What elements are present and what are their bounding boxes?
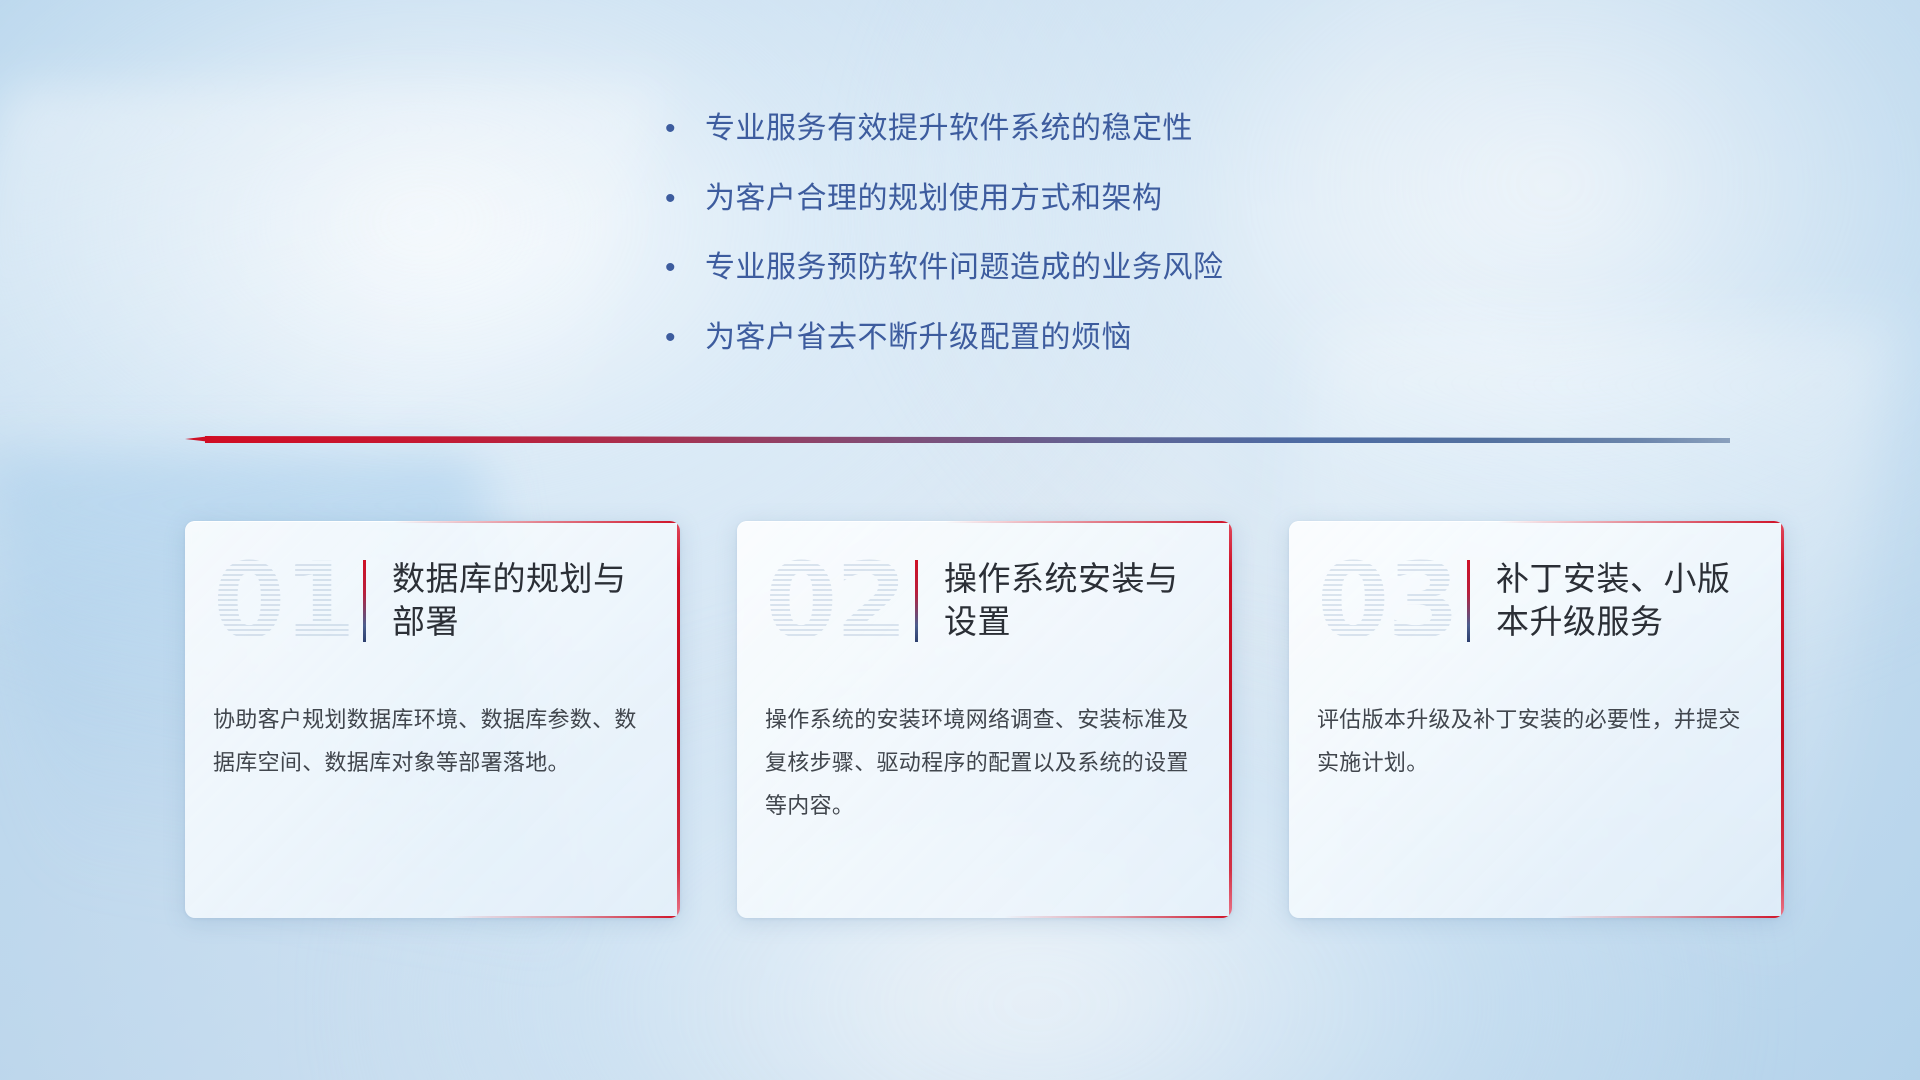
card-number: 01 <box>213 549 363 653</box>
service-card-list: 01 数据库的规划与部署 协助客户规划数据库环境、数据库参数、数据库空间、数据库… <box>185 521 1784 918</box>
card-header: 02 操作系统安装与设置 <box>737 521 1232 681</box>
card-bottom-accent <box>452 916 680 918</box>
card-description: 评估版本升级及补丁安装的必要性，并提交实施计划。 <box>1289 681 1784 785</box>
service-card-03[interactable]: 03 补丁安装、小版本升级服务 评估版本升级及补丁安装的必要性，并提交实施计划。 <box>1289 521 1784 918</box>
list-item: • 为客户合理的规划使用方式和架构 <box>665 180 1485 218</box>
list-item-label: 专业服务有效提升软件系统的稳定性 <box>705 110 1193 148</box>
section-divider <box>185 432 1730 446</box>
list-item: • 为客户省去不断升级配置的烦恼 <box>665 319 1485 357</box>
list-item-label: 专业服务预防软件问题造成的业务风险 <box>705 249 1224 287</box>
list-item: • 专业服务预防软件问题造成的业务风险 <box>665 249 1485 287</box>
card-accent-bar <box>915 560 918 642</box>
card-title: 操作系统安装与设置 <box>944 558 1194 644</box>
card-number: 02 <box>765 549 915 653</box>
card-title: 补丁安装、小版本升级服务 <box>1496 558 1746 644</box>
card-accent-bar <box>1467 560 1470 642</box>
card-number: 03 <box>1317 549 1467 653</box>
card-bottom-accent <box>1004 916 1232 918</box>
list-item-label: 为客户省去不断升级配置的烦恼 <box>705 319 1132 357</box>
benefits-bullet-list: • 专业服务有效提升软件系统的稳定性 • 为客户合理的规划使用方式和架构 • 专… <box>665 110 1485 388</box>
card-bottom-accent <box>1556 916 1784 918</box>
card-description: 操作系统的安装环境网络调查、安装标准及复核步骤、驱动程序的配置以及系统的设置等内… <box>737 681 1232 828</box>
card-title: 数据库的规划与部署 <box>392 558 642 644</box>
bullet-point-icon: • <box>665 180 705 218</box>
card-header: 03 补丁安装、小版本升级服务 <box>1289 521 1784 681</box>
service-card-02[interactable]: 02 操作系统安装与设置 操作系统的安装环境网络调查、安装标准及复核步骤、驱动程… <box>737 521 1232 918</box>
bullet-point-icon: • <box>665 110 705 148</box>
list-item-label: 为客户合理的规划使用方式和架构 <box>705 180 1163 218</box>
divider-bar <box>205 436 1730 443</box>
bullet-point-icon: • <box>665 249 705 287</box>
list-item: • 专业服务有效提升软件系统的稳定性 <box>665 110 1485 148</box>
card-header: 01 数据库的规划与部署 <box>185 521 680 681</box>
card-description: 协助客户规划数据库环境、数据库参数、数据库空间、数据库对象等部署落地。 <box>185 681 680 785</box>
bullet-point-icon: • <box>665 319 705 357</box>
card-accent-bar <box>363 560 366 642</box>
service-card-01[interactable]: 01 数据库的规划与部署 协助客户规划数据库环境、数据库参数、数据库空间、数据库… <box>185 521 680 918</box>
